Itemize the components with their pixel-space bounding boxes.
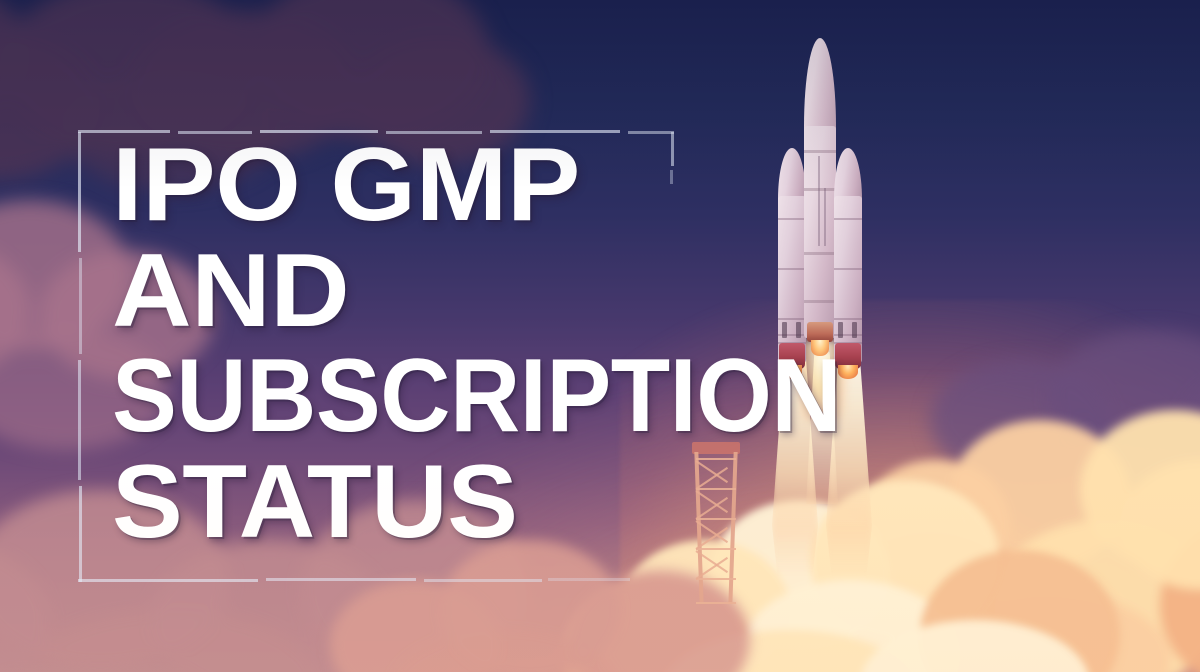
banner-image: IPO GMP AND SUBSCRIPTION STATUS [0,0,1200,672]
headline-line-4: STATUS [112,457,1030,549]
headline-line-3: SUBSCRIPTION [112,351,954,443]
headline-line-1: IPO GMP [112,140,1066,232]
nose-cone [804,38,836,134]
page-title: IPO GMP AND SUBSCRIPTION STATUS [112,140,1012,548]
headline-line-2: AND [112,246,1066,338]
